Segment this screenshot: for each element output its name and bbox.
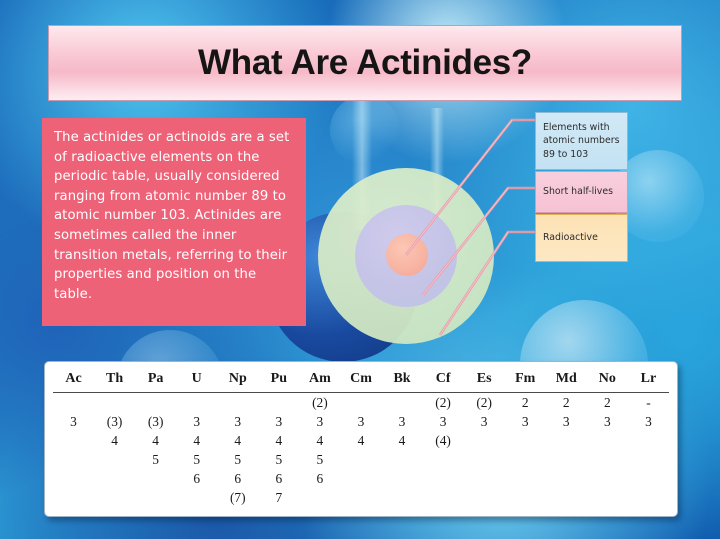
table-cell [587,469,628,488]
table-cell [546,431,587,450]
table-cell: 3 [382,412,423,431]
table-cell [94,393,135,413]
table-cell [217,393,258,413]
table-cell: 3 [217,412,258,431]
table-cell [135,488,176,507]
table-cell [464,431,505,450]
table-cell [176,393,217,413]
table-cell: 3 [628,412,669,431]
table-header-es: Es [464,368,505,393]
table-cell [464,488,505,507]
table-cell [628,431,669,450]
table-cell: (7) [217,488,258,507]
title-banner: What Are Actinides? [48,25,682,101]
table-row: 55555 [53,450,669,469]
table-cell: (2) [464,393,505,413]
table-cell [587,431,628,450]
table-cell [546,469,587,488]
table-cell: (4) [423,431,464,450]
table-cell: 4 [340,431,381,450]
table-cell [628,469,669,488]
table-cell [382,450,423,469]
table-body: (2)(2)(2)222-3(3)(3)33333333333344444444… [53,393,669,508]
table-cell [176,488,217,507]
slide-canvas: What Are Actinides? The actinides or act… [0,0,720,539]
table-cell: 5 [135,450,176,469]
table-cell: 4 [382,431,423,450]
table-cell: 2 [546,393,587,413]
table-cell: 4 [299,431,340,450]
description-panel: The actinides or actinoids are a set of … [42,118,306,326]
table-cell [464,469,505,488]
table-cell: 6 [258,469,299,488]
table-row: (7)7 [53,488,669,507]
table-cell [382,488,423,507]
table-cell [94,450,135,469]
table-cell [628,450,669,469]
table-cell [546,488,587,507]
table-cell: 4 [176,431,217,450]
table-cell [587,488,628,507]
callout-radioactive[interactable]: Radioactive [535,214,628,262]
table-cell: 5 [258,450,299,469]
table-cell: 3 [505,412,546,431]
table-row: (2)(2)(2)222- [53,393,669,413]
callout-short-half-lives[interactable]: Short half-lives [535,171,628,213]
table-cell [423,488,464,507]
table-row: 6666 [53,469,669,488]
table-cell: 4 [258,431,299,450]
table-cell: 6 [176,469,217,488]
table-cell: 3 [587,412,628,431]
table-cell: 4 [94,431,135,450]
table-cell [94,469,135,488]
table-cell: (3) [135,412,176,431]
table-cell: 6 [299,469,340,488]
table-cell [382,469,423,488]
table-cell [423,450,464,469]
table-cell [423,469,464,488]
table-header-no: No [587,368,628,393]
table-cell: - [628,393,669,413]
nucleus-core [386,234,428,276]
table-cell [505,469,546,488]
table-cell [505,431,546,450]
atom-shells-diagram [318,168,494,344]
table-cell [340,393,381,413]
table-cell: 3 [258,412,299,431]
table-cell [53,488,94,507]
table-cell: 4 [135,431,176,450]
table-cell: 3 [299,412,340,431]
table-cell [258,393,299,413]
table-cell [53,393,94,413]
table-cell [628,488,669,507]
oxidation-states-table-card: AcThPaUNpPuAmCmBkCfEsFmMdNoLr (2)(2)(2)2… [44,361,678,517]
table-cell: 5 [299,450,340,469]
table-cell: 6 [217,469,258,488]
table-header-lr: Lr [628,368,669,393]
table-cell: 3 [546,412,587,431]
table-cell [135,469,176,488]
table-cell [464,450,505,469]
table-cell: 3 [53,412,94,431]
table-header-row: AcThPaUNpPuAmCmBkCfEsFmMdNoLr [53,368,669,393]
table-header-u: U [176,368,217,393]
table-header-cf: Cf [423,368,464,393]
oxidation-states-table: AcThPaUNpPuAmCmBkCfEsFmMdNoLr (2)(2)(2)2… [53,368,669,507]
table-cell: (2) [423,393,464,413]
table-header-th: Th [94,368,135,393]
table-cell [382,393,423,413]
table-header-fm: Fm [505,368,546,393]
table-cell [94,488,135,507]
callout-elements-range[interactable]: Elements with atomic numbers 89 to 103 [535,112,628,170]
description-text: The actinides or actinoids are a set of … [54,128,294,304]
table-cell: 3 [176,412,217,431]
table-cell: 3 [340,412,381,431]
table-cell: 2 [587,393,628,413]
table-cell: 3 [423,412,464,431]
table-cell [587,450,628,469]
table-cell: 3 [464,412,505,431]
table-header-cm: Cm [340,368,381,393]
table-cell: (2) [299,393,340,413]
table-header-bk: Bk [382,368,423,393]
table-header-am: Am [299,368,340,393]
table-cell [505,488,546,507]
table-cell [340,450,381,469]
table-row: 44444444(4) [53,431,669,450]
table-header-md: Md [546,368,587,393]
table-cell [53,450,94,469]
table-header-pa: Pa [135,368,176,393]
table-header-pu: Pu [258,368,299,393]
table-cell [53,469,94,488]
callout-label: Short half-lives [543,185,613,198]
table-cell [299,488,340,507]
table-cell [53,431,94,450]
table-cell: 5 [176,450,217,469]
table-cell: (3) [94,412,135,431]
table-row: 3(3)(3)333333333333 [53,412,669,431]
table-cell [340,488,381,507]
table-cell: 2 [505,393,546,413]
table-cell: 7 [258,488,299,507]
table-cell [546,450,587,469]
table-cell [340,469,381,488]
table-cell: 4 [217,431,258,450]
callout-label: Radioactive [543,231,598,244]
table-header-ac: Ac [53,368,94,393]
table-cell: 5 [217,450,258,469]
page-title: What Are Actinides? [198,43,532,83]
table-cell [505,450,546,469]
table-cell [135,393,176,413]
table-header-np: Np [217,368,258,393]
callout-label: Elements with atomic numbers 89 to 103 [543,121,620,161]
